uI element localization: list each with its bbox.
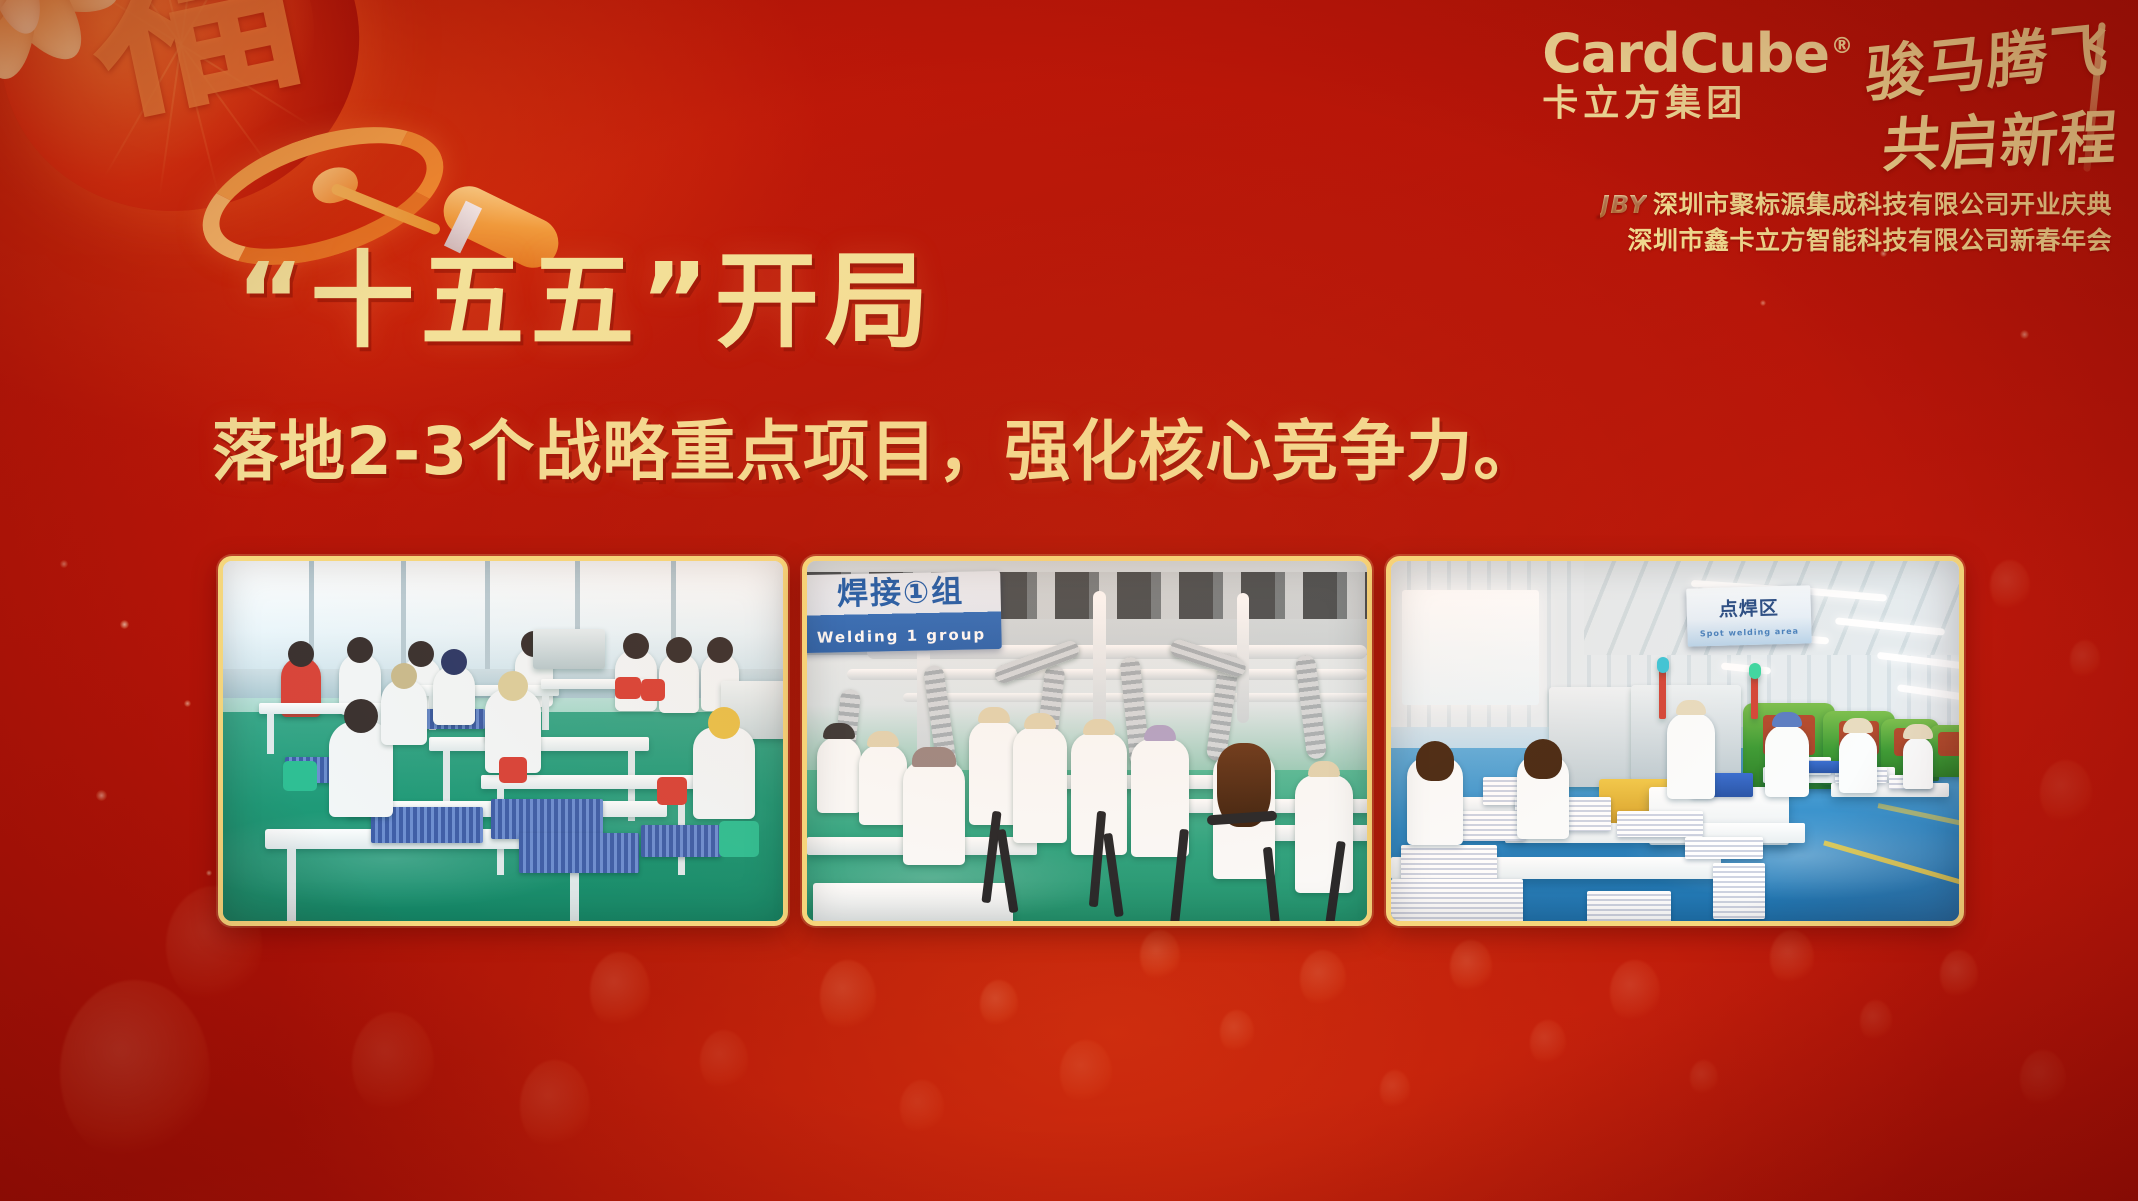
event-line-2: 深圳市鑫卡立方智能科技有限公司新春年会 [1432,223,2112,259]
bokeh-dot [980,980,1018,1028]
photo-3-scene: 点焊区 Spot welding area [1391,561,1959,921]
photo-1-scene [223,561,783,921]
bokeh-dot [900,1080,944,1136]
logo-chinese: 卡立方集团 [1542,85,1852,123]
bokeh-dot [2020,1050,2066,1108]
bokeh-dot [1380,1070,1410,1110]
registered-trademark-icon: ® [1831,34,1852,59]
welding-sign-en: Welding 1 group [807,625,1002,647]
photo-2-scene: 焊接①组 Welding 1 group [807,561,1367,921]
bokeh-dot [2070,640,2100,680]
bokeh-dot [1860,1000,1892,1042]
page-subtitle: 落地2-3个战略重点项目，强化核心竞争力。 [212,398,1540,494]
lantern-body [0,0,395,249]
spark-dot [184,700,191,707]
banner-canvas: 福 [0,0,2138,1201]
bokeh-dot [590,952,650,1030]
lantern-small [0,135,13,333]
spark-dot [1760,300,1766,306]
spark-dot [206,870,212,876]
bokeh-dot [1940,950,1978,1000]
calligraphy-block: 骏马腾飞 共启新程 [1868,18,2112,179]
spark-dot [2020,330,2029,339]
photo-strip: 焊接①组 Welding 1 group [218,556,1964,926]
area-sign-en: Spot welding area [1687,626,1811,638]
jby-mark: JBY [1600,187,1647,223]
spot-welding-area-sign: 点焊区 Spot welding area [1686,585,1812,646]
event-line-1: JBY深圳市聚标源集成科技有限公司开业庆典 [1432,187,2112,223]
bokeh-dot [1450,940,1492,994]
bokeh-dot [1990,560,2030,612]
page-title: “十五五”开局 [236,216,935,367]
spark-dot [60,560,68,568]
bokeh-dot [1770,930,1814,986]
bokeh-dot [700,1030,748,1092]
lantern-hoop-knob [308,162,362,209]
peony-flower-icon [0,0,150,100]
bokeh-dot [1140,930,1180,982]
spark-dot [120,620,129,629]
bokeh-dot [520,1060,590,1152]
bokeh-dot [60,980,210,1165]
spark-dot [96,790,107,801]
logo-english: CardCube® [1542,26,1852,81]
area-sign-cn: 点焊区 [1686,592,1811,622]
welding-sign-cn: 焊接①组 [807,574,1001,612]
brand-header: CardCube® 卡立方集团 骏马腾飞 共启新程 JBY深圳市聚标源集成科技有… [1432,18,2112,258]
photo-card-production[interactable]: 点焊区 Spot welding area [1386,556,1964,926]
fu-character: 福 [43,0,340,163]
event-subtitle-block: JBY深圳市聚标源集成科技有限公司开业庆典 深圳市鑫卡立方智能科技有限公司新春年… [1432,187,2112,258]
photo-assembly-hall[interactable] [218,556,788,926]
bokeh-dot [352,1012,434,1116]
photo-welding-line[interactable]: 焊接①组 Welding 1 group [802,556,1372,926]
bokeh-dot [820,960,876,1034]
bokeh-dot [1530,1020,1566,1066]
fu-disc [39,0,338,181]
bokeh-dot [1300,950,1346,1008]
bokeh-dot [1220,1010,1254,1054]
bokeh-dot [1610,960,1660,1024]
cardcube-logo: CardCube® 卡立方集团 [1542,18,1852,123]
welding-group-sign: 焊接①组 Welding 1 group [807,571,1002,653]
bokeh-dot [2040,760,2092,826]
bokeh-dot [1690,1060,1718,1096]
bokeh-dot [1060,1040,1112,1106]
